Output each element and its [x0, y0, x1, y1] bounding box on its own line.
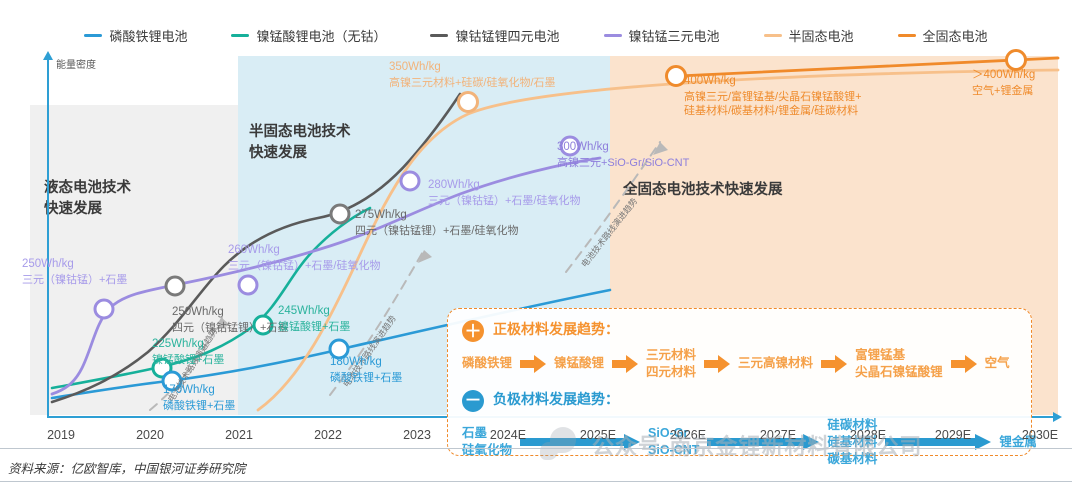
point-label-180-lfp: 180Wh/kg 磷酸铁锂+石墨	[330, 355, 402, 385]
line-dash-icon	[430, 34, 448, 37]
point-label-275-ncml: 275Wh/kg 四元（镍钴锰锂）+石墨/硅氧化物	[355, 208, 518, 238]
legend-label: 镍钴锰锂四元电池	[455, 26, 559, 45]
cathode-step-5: 空气	[985, 355, 1010, 372]
line-dash-icon	[898, 34, 916, 37]
x-tick-2030E: 2030E	[1022, 428, 1058, 442]
label-material: 四元（镍钴锰锂）+石墨	[172, 321, 288, 336]
data-point-350-semi	[459, 93, 478, 112]
plus-icon: ＋	[462, 320, 484, 342]
point-label-400plus-solid: ＞400Wh/kg 空气+锂金属	[972, 68, 1035, 98]
cathode-step-3: 三元高镍材料	[738, 355, 813, 372]
x-tick-2025E: 2025E	[580, 428, 616, 442]
arrow-right-icon	[821, 355, 847, 373]
legend-item-semi-solid[interactable]: 半固态电池	[764, 26, 854, 45]
cathode-step-1: 镍锰酸锂	[554, 355, 604, 372]
label-material-2: 硅基材料/碳基材料/锂金属/硅碳材料	[684, 104, 862, 119]
legend-item-ncm[interactable]: 镍钴锰三元电池	[604, 26, 720, 45]
data-point-250-ncml	[166, 277, 184, 295]
legend-label: 镍钴锰三元电池	[629, 26, 720, 45]
label-value: 250Wh/kg	[172, 305, 288, 321]
cathode-trend-header: ＋ 正极材料发展趋势：	[462, 319, 1017, 342]
label-material: 磷酸铁锂+石墨	[163, 399, 235, 414]
label-value: 245Wh/kg	[278, 304, 350, 320]
data-point-400-solid	[667, 67, 686, 86]
cathode-step-2: 三元材料 四元材料	[646, 347, 696, 381]
cathode-step-4: 富锂锰基 尖晶石镍锰酸锂	[855, 347, 943, 381]
x-axis-ticks: 2019 2020 2021 2022 2023 2024E 2025E 202…	[0, 428, 1072, 448]
data-point-250-ncm	[95, 300, 113, 318]
plot-area: 液态电池技术 快速发展 半固态电池技术 快速发展 全固态电池技术快速发展 能量密…	[0, 50, 1072, 425]
data-point-400plus-solid	[1007, 51, 1026, 70]
x-tick-2024E: 2024E	[490, 428, 526, 442]
point-label-350-semi: 350Wh/kg 高镍三元材料+硅碳/硅氧化物/石墨	[389, 60, 556, 90]
arrow-right-icon	[612, 355, 638, 373]
label-material: 空气+锂金属	[972, 84, 1035, 99]
footer-divider-bottom	[0, 481, 1072, 482]
legend-label: 全固态电池	[923, 26, 988, 45]
label-material: 镍锰酸锂+石墨	[152, 353, 224, 368]
source-note: 资料来源：亿欧智库，中国银河证券研究院	[8, 458, 246, 477]
arrow-right-icon	[704, 355, 730, 373]
point-label-250-ncml: 250Wh/kg 四元（镍钴锰锂）+石墨	[172, 305, 288, 335]
line-dash-icon	[231, 34, 249, 37]
legend-label: 磷酸铁锂电池	[109, 26, 187, 45]
label-value: 180Wh/kg	[330, 355, 402, 371]
x-tick-2021: 2021	[225, 428, 253, 442]
point-label-225-lnmo: 225Wh/kg 镍锰酸锂+石墨	[152, 337, 224, 367]
x-tick-2023: 2023	[403, 428, 431, 442]
point-label-170-lfp: 170Wh/kg 磷酸铁锂+石墨	[163, 383, 235, 413]
label-value: 300Wh/kg	[557, 140, 689, 156]
label-value: 260Wh/kg	[228, 243, 380, 259]
label-value: 250Wh/kg	[22, 257, 127, 273]
point-label-400-solid: 400Wh/kg 高镍三元/富锂锰基/尖晶石镍锰酸锂+ 硅基材料/碳基材料/锂金…	[684, 74, 862, 119]
point-label-250-ncm: 250Wh/kg 三元（镍钴锰）+石墨	[22, 257, 127, 287]
legend-item-lfp[interactable]: 磷酸铁锂电池	[84, 26, 187, 45]
legend-label: 镍锰酸锂电池（无钴）	[256, 26, 386, 45]
point-label-300-ncm: 300Wh/kg 高镍三元+SiO-Gr/SiO-CNT	[557, 140, 689, 170]
label-material: 磷酸铁锂+石墨	[330, 371, 402, 386]
label-material: 三元（镍钴锰）+石墨	[22, 273, 127, 288]
label-material: 高镍三元材料+硅碳/硅氧化物/石墨	[389, 76, 556, 91]
minus-icon: －	[462, 390, 484, 412]
x-tick-2026E: 2026E	[670, 428, 706, 442]
cathode-trend-chain: 磷酸铁锂 镍锰酸锂 三元材料 四元材料	[462, 347, 1017, 381]
point-label-280-ncm: 280Wh/kg 三元（镍钴锰）+石墨/硅氧化物	[428, 178, 580, 208]
label-value: 400Wh/kg	[684, 74, 862, 90]
data-point-275-ncml	[331, 205, 349, 223]
label-value: 225Wh/kg	[152, 337, 224, 353]
chart-page: 磷酸铁锂电池 镍锰酸锂电池（无钴） 镍钴锰锂四元电池 镍钴锰三元电池 半固态电池…	[0, 0, 1072, 484]
legend-label: 半固态电池	[789, 26, 854, 45]
cathode-trend-title: 正极材料发展趋势：	[493, 319, 619, 339]
x-tick-2027E: 2027E	[760, 428, 796, 442]
label-value: 280Wh/kg	[428, 178, 580, 194]
footer-divider-top	[0, 448, 1072, 449]
label-material: 三元（镍钴锰）+石墨/硅氧化物	[228, 259, 380, 274]
point-label-245-lnmo: 245Wh/kg 镍锰酸锂+石墨	[278, 304, 350, 334]
line-dash-icon	[604, 34, 622, 37]
label-material: 四元（镍钴锰锂）+石墨/硅氧化物	[355, 224, 518, 239]
label-material: 三元（镍钴锰）+石墨/硅氧化物	[428, 194, 580, 209]
legend-item-all-solid[interactable]: 全固态电池	[898, 26, 988, 45]
label-material: 高镍三元+SiO-Gr/SiO-CNT	[557, 156, 689, 171]
label-value: ＞400Wh/kg	[972, 68, 1035, 84]
x-tick-2022: 2022	[314, 428, 342, 442]
cathode-step-0: 磷酸铁锂	[462, 355, 512, 372]
anode-trend-title: 负极材料发展趋势：	[493, 389, 619, 409]
x-tick-2028E: 2028E	[850, 428, 886, 442]
arrow-right-icon	[520, 355, 546, 373]
anode-trend-header: － 负极材料发展趋势：	[462, 389, 1017, 412]
chart-legend: 磷酸铁锂电池 镍锰酸锂电池（无钴） 镍钴锰锂四元电池 镍钴锰三元电池 半固态电池…	[0, 24, 1072, 46]
label-value: 275Wh/kg	[355, 208, 518, 224]
line-dash-icon	[764, 34, 782, 37]
label-material: 高镍三元/富锂锰基/尖晶石镍锰酸锂+	[684, 90, 862, 105]
arrow-right-icon	[951, 355, 977, 373]
x-tick-2019: 2019	[47, 428, 75, 442]
point-label-260-ncm: 260Wh/kg 三元（镍钴锰）+石墨/硅氧化物	[228, 243, 380, 273]
label-value: 350Wh/kg	[389, 60, 556, 76]
x-tick-2029E: 2029E	[935, 428, 971, 442]
label-material: 镍锰酸锂+石墨	[278, 320, 350, 335]
legend-item-lnmo[interactable]: 镍锰酸锂电池（无钴）	[231, 26, 386, 45]
data-point-260-ncm	[239, 276, 257, 294]
legend-item-ncml[interactable]: 镍钴锰锂四元电池	[430, 26, 559, 45]
line-dash-icon	[84, 34, 102, 37]
data-point-280-ncm	[401, 172, 419, 190]
x-tick-2020: 2020	[136, 428, 164, 442]
label-value: 170Wh/kg	[163, 383, 235, 399]
